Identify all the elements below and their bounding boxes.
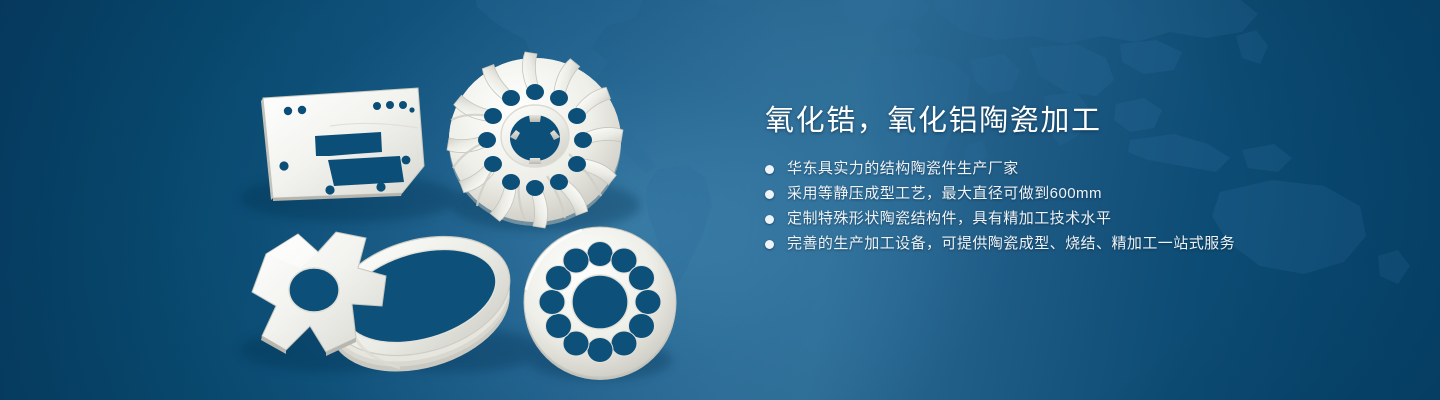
ceramic-perforated-disc [524, 227, 676, 380]
list-item: 完善的生产加工设备，可提供陶瓷成型、烧结、精加工一站式服务 [765, 235, 1385, 253]
bullet-dot-icon [765, 165, 774, 174]
promo-banner: 氧化锆，氧化铝陶瓷加工 华东具实力的结构陶瓷件生产厂家 采用等静压成型工艺，最大… [0, 0, 1440, 400]
feature-list: 华东具实力的结构陶瓷件生产厂家 采用等静压成型工艺，最大直径可做到600mm 定… [765, 160, 1385, 253]
feature-text: 华东具实力的结构陶瓷件生产厂家 [787, 160, 1019, 178]
ceramic-products-image [0, 0, 760, 400]
list-item: 采用等静压成型工艺，最大直径可做到600mm [765, 185, 1385, 203]
banner-copy: 氧化锆，氧化铝陶瓷加工 华东具实力的结构陶瓷件生产厂家 采用等静压成型工艺，最大… [765, 104, 1385, 260]
bullet-dot-icon [765, 190, 774, 199]
ceramic-products-illustration [0, 0, 760, 400]
ceramic-flat-plate [261, 88, 424, 201]
list-item: 华东具实力的结构陶瓷件生产厂家 [765, 160, 1385, 178]
bullet-dot-icon [765, 240, 774, 249]
page-title: 氧化锆，氧化铝陶瓷加工 [765, 104, 1385, 138]
feature-text: 定制特殊形状陶瓷结构件，具有精加工技术水平 [787, 210, 1111, 228]
list-item: 定制特殊形状陶瓷结构件，具有精加工技术水平 [765, 210, 1385, 228]
bullet-dot-icon [765, 215, 774, 224]
feature-text: 采用等静压成型工艺，最大直径可做到600mm [787, 185, 1102, 203]
feature-text: 完善的生产加工设备，可提供陶瓷成型、烧结、精加工一站式服务 [787, 235, 1235, 253]
